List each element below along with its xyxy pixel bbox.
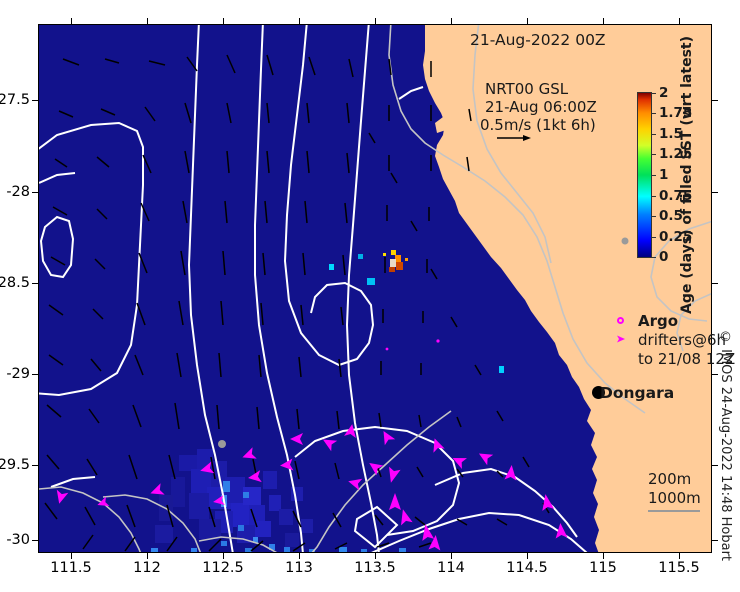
x-tick-label: 111.5 [50, 560, 92, 576]
x-tick-label: 114 [437, 560, 465, 576]
x-tick-top [299, 18, 300, 24]
colorbar-title: Age (days) of filled SST (wrt latest) [679, 36, 695, 314]
x-tick-top [451, 18, 452, 24]
x-tick [147, 553, 148, 559]
colorbar-gradient [637, 92, 652, 258]
x-tick [451, 553, 452, 559]
colorbar-tick [652, 134, 656, 135]
map-plot-area[interactable] [38, 24, 712, 553]
x-tick [223, 553, 224, 559]
colorbar-tick [652, 237, 656, 238]
x-tick [375, 553, 376, 559]
y-tick-label: -29 [6, 366, 30, 382]
y-tick-label: 29.5 [0, 457, 30, 473]
colorbar-tick [652, 257, 656, 258]
y-tick [32, 283, 38, 284]
dongara-city-label: Dongara [600, 384, 674, 402]
legend-drifters-label: drifters@6h [638, 331, 726, 349]
x-tick-top [147, 18, 148, 24]
x-tick-label: 114.5 [506, 560, 548, 576]
legend-argo-label: Argo [638, 312, 678, 330]
date-label: 21-Aug-2022 00Z [470, 31, 606, 49]
colorbar-tick [652, 175, 656, 176]
x-tick [71, 553, 72, 559]
x-tick [299, 553, 300, 559]
colorbar-tick [652, 154, 656, 155]
x-tick-label: 112.5 [202, 560, 244, 576]
model-name-label: NRT00 GSL [485, 80, 568, 98]
y-tick-right [712, 192, 718, 193]
x-tick-top [679, 18, 680, 24]
x-tick-top [71, 18, 72, 24]
depth-contour-key: 200m 1000m [648, 470, 701, 508]
colorbar-tick [652, 196, 656, 197]
copyright-label: © IMOS 24-Aug-2022 14:48 Hobart [718, 330, 733, 561]
figure-root: 111.5 112 112.5 113 113.5 114 114.5 115 … [0, 0, 740, 592]
colorbar-tick [652, 113, 656, 114]
y-tick-label: -30 [6, 532, 30, 548]
x-tick [527, 553, 528, 559]
colorbar[interactable]: 2 1.75 1.5 1.25 1 0.75 0.5 0.25 0 [637, 92, 652, 258]
colorbar-tick [652, 93, 656, 94]
x-tick [679, 553, 680, 559]
map-canvas [39, 25, 712, 553]
y-tick-label: 28.5 [0, 275, 30, 291]
x-tick-top [603, 18, 604, 24]
x-tick [603, 553, 604, 559]
x-tick-label: 112 [133, 560, 161, 576]
x-tick-label: 113 [285, 560, 313, 576]
y-tick-right [712, 100, 718, 101]
drifter-marker-icon [615, 335, 626, 343]
colorbar-tick [652, 216, 656, 217]
y-tick-label: -28 [6, 184, 30, 200]
y-tick-right [712, 283, 718, 284]
depth-key-line [648, 510, 700, 512]
colorbar-label: 0 [659, 249, 668, 265]
colorbar-label: 1 [659, 167, 668, 183]
y-tick [32, 465, 38, 466]
vector-scale-arrow-icon [497, 132, 531, 144]
y-tick [32, 540, 38, 541]
argo-marker-icon [617, 317, 624, 324]
y-tick [32, 192, 38, 193]
x-tick-label: 115 [589, 560, 617, 576]
x-tick-top [223, 18, 224, 24]
y-tick [32, 374, 38, 375]
x-tick-top [375, 18, 376, 24]
y-tick-label: 27.5 [0, 92, 30, 108]
model-time-label: 21-Aug 06:00Z [485, 98, 597, 116]
colorbar-label: 2 [659, 85, 668, 101]
y-tick [32, 100, 38, 101]
x-tick-label: 113.5 [354, 560, 396, 576]
x-tick-top [527, 18, 528, 24]
depth-label-1000m: 1000m [648, 489, 701, 508]
depth-label-200m: 200m [648, 470, 701, 489]
x-tick-label: 115.5 [658, 560, 700, 576]
